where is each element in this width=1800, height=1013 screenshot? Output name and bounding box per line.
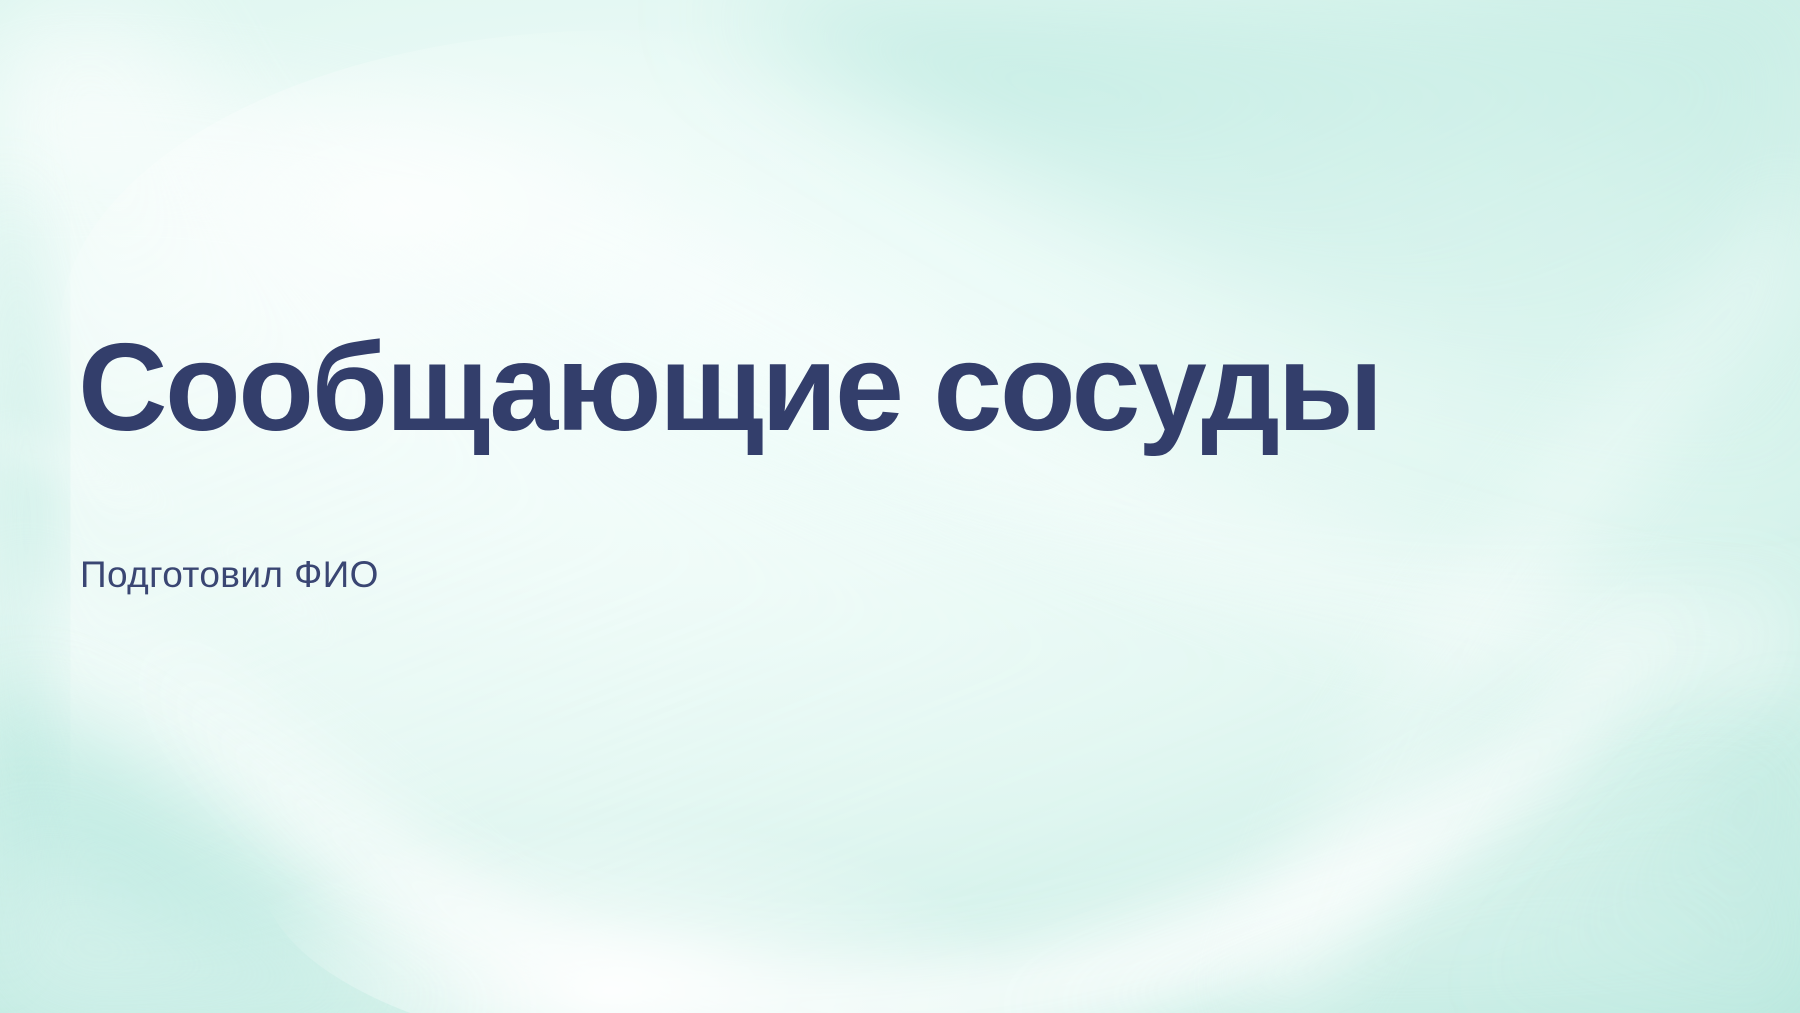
left-edge-band	[0, 160, 54, 1013]
page-title: Сообщающие сосуды	[78, 326, 1381, 450]
slide-content: Сообщающие сосуды Подготовил ФИО	[78, 0, 1578, 1013]
presentation-slide: Сообщающие сосуды Подготовил ФИО	[0, 0, 1800, 1013]
author-subtitle: Подготовил ФИО	[80, 553, 379, 597]
